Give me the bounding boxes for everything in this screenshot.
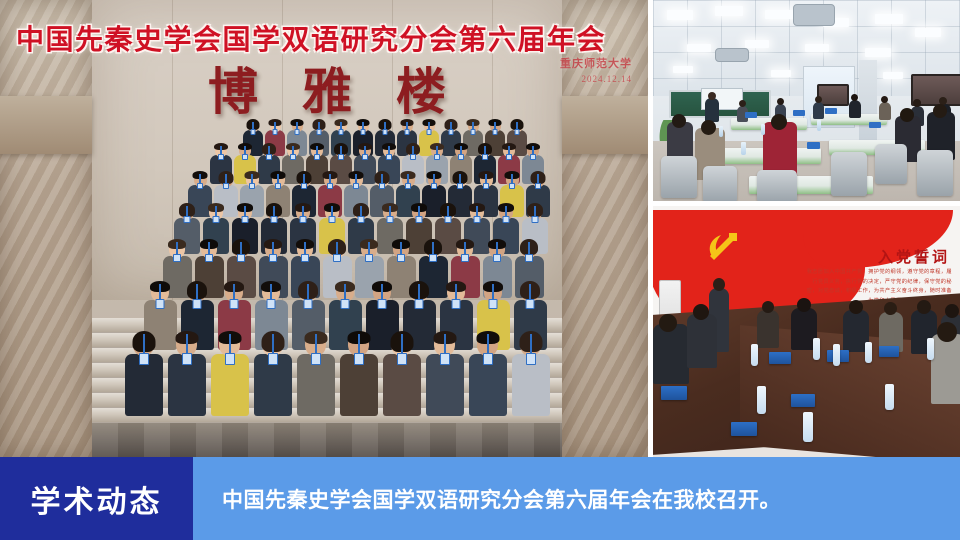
attendee-badge	[273, 129, 278, 135]
attendee-badge	[218, 154, 224, 160]
attendee-badge	[449, 129, 454, 135]
photo-credit-date: 2024.12.14	[560, 74, 632, 84]
attendee-badge	[493, 254, 501, 262]
attendee-badge	[300, 216, 307, 223]
attendee-badge	[230, 299, 239, 309]
attendee-badge	[386, 154, 392, 160]
attendee	[426, 332, 464, 416]
attendee	[512, 332, 550, 416]
attendee-badge	[532, 216, 539, 223]
attendee-badge	[445, 216, 452, 223]
wall-calligraphy: 博雅楼	[92, 52, 562, 124]
attendee-lanyard	[487, 334, 489, 355]
attendee-badge	[362, 154, 368, 160]
attendee-badge	[205, 254, 213, 262]
attendee-torso	[469, 354, 507, 416]
attendee-badge	[269, 254, 277, 262]
attendee-badge	[410, 154, 416, 160]
attendee-badge	[482, 154, 488, 160]
banner-headline-text: 中国先秦史学会国学双语研究分会第六届年会在我校召开。	[222, 484, 781, 514]
attendee-lanyard	[143, 334, 145, 355]
attendee	[469, 332, 507, 416]
presenter	[705, 98, 719, 122]
attendee-badge	[535, 183, 541, 189]
attendee-badge	[295, 129, 300, 135]
attendee-badge	[341, 299, 350, 309]
attendee-badge	[405, 183, 411, 189]
attendee-badge	[506, 154, 512, 160]
attendee-badge	[354, 353, 364, 365]
attendee-badge	[225, 353, 235, 365]
hammer-sickle-emblem	[703, 226, 743, 266]
attendee	[340, 332, 378, 416]
attendee-badge	[251, 129, 256, 135]
attendee-badge	[327, 183, 333, 189]
attendee	[125, 332, 163, 416]
attendee-badge	[483, 353, 493, 365]
attendee-badge	[515, 129, 520, 135]
attendee-badge	[213, 216, 220, 223]
main-group-photo: 博雅楼 中国先秦史学会国学双语研究分会第六届年会 重庆师范	[0, 0, 648, 457]
attendee-badge	[268, 353, 278, 365]
attendee-badge	[317, 129, 322, 135]
attendee-badge	[275, 183, 281, 189]
attendee-badge	[471, 129, 476, 135]
attendee-badge	[379, 183, 385, 189]
attendee-badge	[266, 154, 272, 160]
attendee-badge	[267, 299, 276, 309]
attendee-badge	[358, 216, 365, 223]
attendee-badge	[387, 216, 394, 223]
attendee-badge	[397, 254, 405, 262]
photo-overlay-title: 中国先秦史学会国学双语研究分会第六届年会	[16, 18, 628, 58]
stone-pillar-left	[0, 0, 92, 457]
attendee-badge	[440, 353, 450, 365]
attendee-lanyard	[444, 334, 446, 355]
attendee-lanyard	[358, 334, 360, 355]
attendee-badge	[365, 254, 373, 262]
attendee-badge	[525, 254, 533, 262]
attendee-torso	[426, 354, 464, 416]
attendee	[254, 332, 292, 416]
attendee-row	[86, 332, 588, 416]
attendee-badge	[237, 254, 245, 262]
attendee	[383, 332, 421, 416]
attendee-badge	[526, 353, 536, 365]
attendee-badge	[173, 254, 181, 262]
banner-category-label: 学术动态	[31, 477, 163, 521]
bottom-banner: 学术动态 中国先秦史学会国学双语研究分会第六届年会在我校召开。	[0, 457, 960, 540]
attendee-badge	[457, 183, 463, 189]
attendee-badge	[378, 299, 387, 309]
party-meeting-photo: 入党誓词 我志愿加入中国共产党，拥护党的纲领，遵守党的章程，履行党员义务，执行党…	[653, 206, 960, 457]
attendee-torso	[125, 354, 163, 416]
attendee-badge	[427, 129, 432, 135]
oath-title: 入党誓词	[878, 246, 950, 267]
attendee-badge	[383, 129, 388, 135]
attendee-badge	[193, 299, 202, 309]
attendee-badge	[431, 183, 437, 189]
attendee-badge	[223, 183, 229, 189]
attendee-badge	[434, 154, 440, 160]
attendee-lanyard	[272, 334, 274, 355]
attendee-torso	[512, 354, 550, 416]
attendee-torso	[211, 354, 249, 416]
attendee-torso	[297, 354, 335, 416]
standing-speaker-head	[713, 278, 725, 291]
attendee-badge	[290, 154, 296, 160]
attendee	[168, 332, 206, 416]
photo-credit: 重庆师范大学 2024.12.14	[560, 55, 632, 84]
attendee-badge	[429, 254, 437, 262]
attendee-torso	[383, 354, 421, 416]
banner-headline-area[interactable]: 中国先秦史学会国学双语研究分会第六届年会在我校召开。	[193, 457, 960, 540]
attendee-lanyard	[229, 334, 231, 355]
classroom-photo	[653, 0, 960, 201]
attendee	[211, 332, 249, 416]
attendee-badge	[329, 216, 336, 223]
attendee-badge	[452, 299, 461, 309]
attendee-badge	[242, 216, 249, 223]
attendee-badge	[197, 183, 203, 189]
attendee-badge	[156, 299, 165, 309]
attendee-badge	[509, 183, 515, 189]
attendee-badge	[182, 353, 192, 365]
attendee-badge	[461, 254, 469, 262]
attendee-badge	[493, 129, 498, 135]
attendee-badge	[489, 299, 498, 309]
attendee-badge	[314, 154, 320, 160]
attendee-badge	[530, 154, 536, 160]
attendee-torso	[254, 354, 292, 416]
presenter-head	[708, 92, 716, 100]
photo-collage: 博雅楼 中国先秦史学会国学双语研究分会第六届年会 重庆师范	[0, 0, 960, 457]
attendee	[297, 332, 335, 416]
attendee-badge	[361, 129, 366, 135]
attendee-lanyard	[186, 334, 188, 355]
attendee-badge	[339, 129, 344, 135]
attendee-badge	[311, 353, 321, 365]
attendee-badge	[271, 216, 278, 223]
banner-category-tag[interactable]: 学术动态	[0, 457, 193, 540]
attendee-lanyard	[401, 334, 403, 355]
attendee-badge	[353, 183, 359, 189]
attendee-lanyard	[530, 334, 532, 355]
attendee-badge	[397, 353, 407, 365]
attendee-badge	[405, 129, 410, 135]
slide-root: 博雅楼 中国先秦史学会国学双语研究分会第六届年会 重庆师范	[0, 0, 960, 540]
attendee-badge	[338, 154, 344, 160]
attendee-badge	[249, 183, 255, 189]
attendee-badge	[415, 299, 424, 309]
attendee-badge	[301, 254, 309, 262]
attendee-badge	[333, 254, 341, 262]
attendee-badge	[242, 154, 248, 160]
attendee-badge	[184, 216, 191, 223]
attendee-crowd	[86, 120, 588, 429]
attendee-badge	[474, 216, 481, 223]
photo-credit-org: 重庆师范大学	[560, 55, 632, 71]
attendee-lanyard	[315, 334, 317, 355]
attendee-badge	[526, 299, 535, 309]
attendee-torso	[340, 354, 378, 416]
attendee-badge	[503, 216, 510, 223]
attendee-badge	[458, 154, 464, 160]
attendee-torso	[168, 354, 206, 416]
attendee-badge	[304, 299, 313, 309]
attendee-badge	[301, 183, 307, 189]
attendee-badge	[139, 353, 149, 365]
attendee-badge	[483, 183, 489, 189]
attendee-badge	[416, 216, 423, 223]
